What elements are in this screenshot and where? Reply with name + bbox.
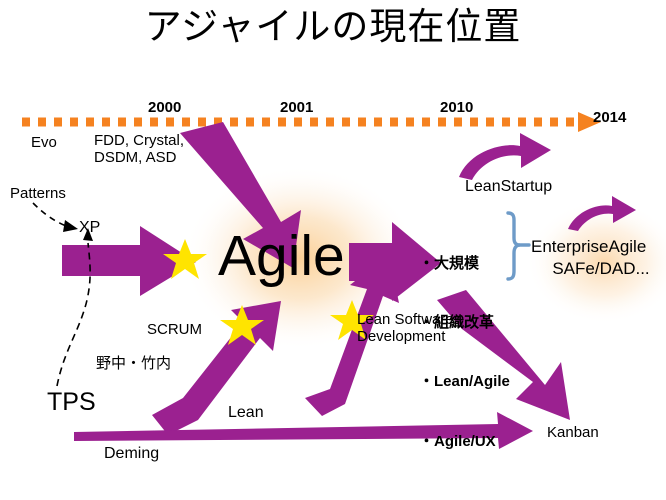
bullet-item-2: ・Lean/Agile [419,372,510,392]
year-label-2010: 2010 [440,100,473,117]
bullet-item-3: ・Agile/UX [419,432,510,452]
center-label-agile: Agile [218,225,345,289]
bullet-list: ・大規模 ・組織改革 ・Lean/Agile ・Agile/UX [419,214,510,491]
brace-icon [508,213,529,279]
label-scrum: SCRUM [147,322,202,339]
arrow-leanstartup [459,133,551,180]
label-fdd-crystal-dsdm-asd: FDD, Crystal, DSDM, ASD [94,133,184,167]
label-nonaka-takeuchi: 野中・竹内 [96,356,171,373]
label-lean: Lean [228,404,264,422]
year-label-2001: 2001 [280,100,313,117]
page-title: アジャイルの現在位置 [0,6,666,47]
year-label-2000: 2000 [148,100,181,117]
label-xp: XP [79,219,100,237]
bullet-item-0: ・大規模 [419,254,510,274]
label-tps: TPS [47,388,96,416]
label-enterprise-agile: EnterpriseAgile [531,237,666,256]
label-evo: Evo [31,135,57,152]
label-deming: Deming [104,445,159,463]
label-patterns: Patterns [10,186,66,203]
label-leanstartup: LeanStartup [465,178,552,196]
label-safe-dad: SAFe/DAD... [531,259,666,278]
dashed-arrow-patterns-to-xp [33,203,78,232]
label-lean-software-development: Lean Software Development [357,312,454,346]
label-kanban: Kanban [547,425,599,442]
slide-canvas: アジャイルの現在位置 2000 2001 2010 2014 Evo FDD, … [0,0,666,500]
year-label-2014: 2014 [593,110,626,127]
